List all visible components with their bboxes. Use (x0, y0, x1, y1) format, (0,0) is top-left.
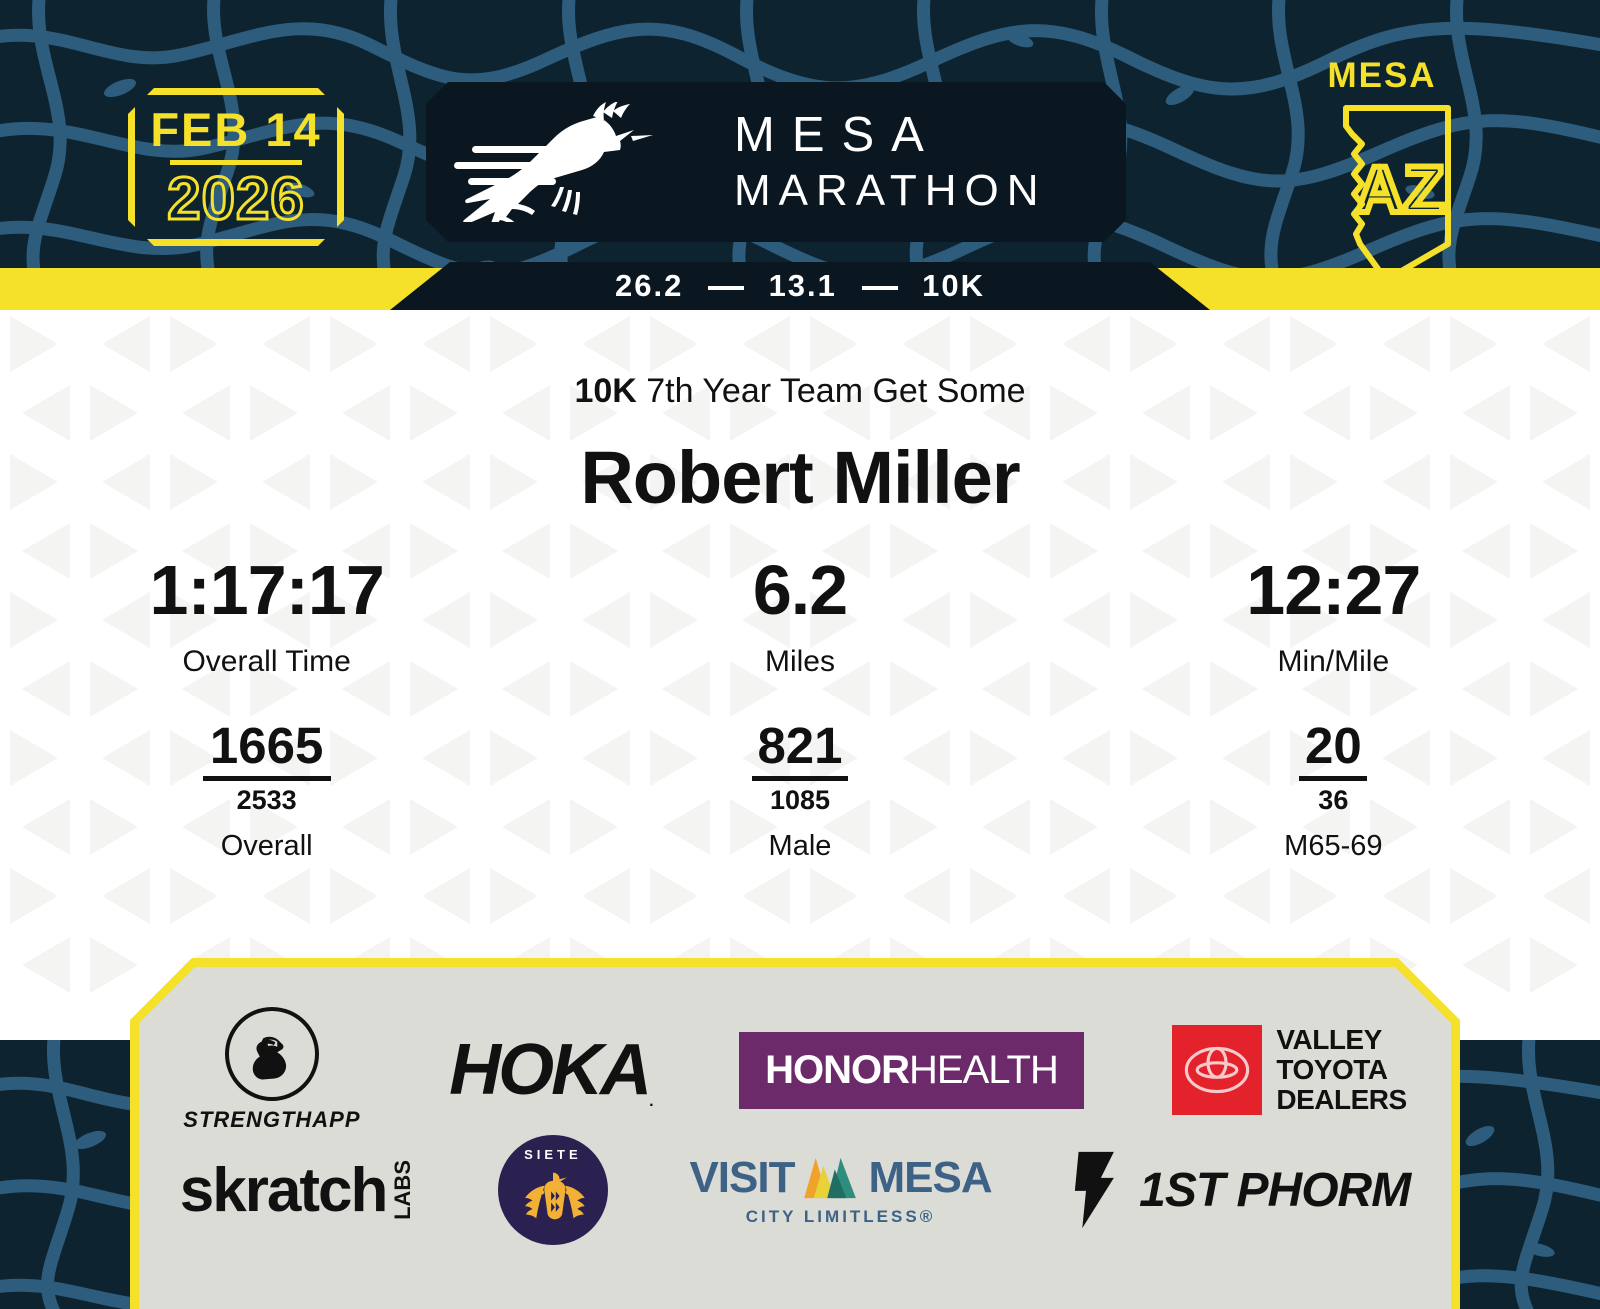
sponsor-tagline: CITY LIMITLESS® (746, 1207, 935, 1227)
fraction-bar (1299, 776, 1367, 781)
sponsor-name: SIETE (498, 1147, 608, 1162)
placement-field: 36 (1318, 786, 1348, 814)
flexed-bicep-icon (225, 1007, 319, 1101)
sponsor-name: HOKA (449, 1030, 649, 1110)
distance-full: 26.2 (615, 268, 683, 303)
distance-separator (708, 286, 744, 290)
placement-fraction: 1665 2533 Overall (203, 719, 331, 863)
race-and-team-line: 10K 7th Year Team Get Some (0, 372, 1600, 411)
placement-division: M65-69 (1284, 830, 1382, 863)
phorm-flag-icon (1073, 1150, 1125, 1230)
sponsor-word-visit: VISIT (689, 1153, 794, 1203)
event-year: 2026 (167, 169, 304, 229)
sponsor-word-mesa: MESA (868, 1153, 991, 1203)
stat-value: 1:17:17 (150, 555, 384, 625)
sponsor-hoka[interactable]: HOKA. (449, 1015, 650, 1125)
sponsor-name: STRENGTHAPP (183, 1107, 360, 1133)
az-badge-title: MESA (1312, 56, 1452, 96)
sponsor-name-light: HEALTH (909, 1048, 1058, 1093)
stat-caption: Overall Time (182, 645, 350, 679)
event-date-badge: FEB 14 2026 (128, 88, 344, 246)
sponsor-line-3: DEALERS (1276, 1085, 1406, 1115)
stat-value: 12:27 (1246, 555, 1420, 625)
placement-field: 2533 (237, 786, 297, 814)
sponsor-honorhealth[interactable]: HONORHEALTH (739, 1015, 1084, 1125)
sponsor-name: 1ST PHORM (1139, 1163, 1410, 1218)
distance-10k: 10K (922, 268, 985, 303)
placement-fraction: 821 1085 Male (752, 719, 848, 863)
header-banner: FEB 14 2026 (0, 0, 1600, 310)
distance-banner: 26.2 13.1 10K (390, 262, 1210, 310)
distance-list: 26.2 13.1 10K (615, 268, 985, 304)
sponsor-line-1: VALLEY (1276, 1025, 1406, 1055)
sponsor-panel: STRENGTHAPP HOKA. HONORHEALTH (130, 958, 1460, 1309)
roadrunner-icon (454, 102, 724, 222)
placement-field: 1085 (770, 786, 830, 814)
fraction-bar (203, 776, 331, 781)
toyota-emblem-icon (1172, 1025, 1262, 1115)
date-divider (170, 160, 302, 165)
stat-column-pace: 12:27 Min/Mile 20 36 M65-69 (1067, 555, 1600, 863)
race-distance-label: 10K (574, 372, 636, 410)
sponsor-skratch-labs[interactable]: skratch LABS (180, 1135, 417, 1245)
placement-division: Male (769, 830, 832, 863)
distance-separator (862, 286, 898, 290)
sponsor-row-1: STRENGTHAPP HOKA. HONORHEALTH (139, 1015, 1451, 1125)
sponsor-panel-inner: STRENGTHAPP HOKA. HONORHEALTH (139, 967, 1451, 1309)
placement-rank: 821 (757, 719, 842, 773)
event-month-day: FEB 14 (150, 106, 321, 153)
stats-row: 1:17:17 Overall Time 1665 2533 Overall 6… (0, 555, 1600, 863)
sponsor-visit-mesa[interactable]: VISIT MESA CITY LIMITLESS® (689, 1135, 991, 1245)
fraction-bar (752, 776, 848, 781)
placement-fraction: 20 36 M65-69 (1284, 719, 1382, 863)
stat-caption: Min/Mile (1277, 645, 1389, 679)
sponsor-sub: LABS (390, 1160, 416, 1220)
svg-text:AZ: AZ (1356, 152, 1444, 226)
eagle-icon (511, 1154, 595, 1238)
registered-mark: . (649, 1093, 650, 1110)
sponsor-name: skratch (180, 1155, 387, 1226)
placement-division: Overall (221, 830, 313, 863)
sponsor-name-bold: HONOR (765, 1048, 909, 1093)
mesa-az-badge: MESA AZ (1312, 56, 1452, 246)
race-certificate: FEB 14 2026 (0, 0, 1600, 1309)
arizona-outline-icon: AZ (1312, 94, 1452, 284)
placement-rank: 20 (1305, 719, 1362, 773)
placement-rank: 1665 (210, 719, 323, 773)
stat-column-time: 1:17:17 Overall Time 1665 2533 Overall (0, 555, 533, 863)
results-body: 10K 7th Year Team Get Some Robert Miller… (0, 310, 1600, 1000)
sponsor-line-2: TOYOTA (1276, 1055, 1406, 1085)
distance-half: 13.1 (769, 268, 837, 303)
sponsor-siete[interactable]: SIETE (498, 1135, 608, 1245)
logo-wordmark: MESA MARATHON (734, 107, 1047, 217)
stat-value: 6.2 (753, 555, 847, 625)
logo-line-marathon: MARATHON (734, 165, 1047, 217)
logo-line-mesa: MESA (734, 107, 1047, 165)
team-name: 7th Year Team Get Some (646, 372, 1025, 410)
sponsor-strengthapp[interactable]: STRENGTHAPP (183, 1015, 360, 1125)
mountain-peaks-icon (802, 1156, 860, 1200)
sponsor-row-2: skratch LABS SIETE (139, 1135, 1451, 1245)
stat-caption: Miles (765, 645, 835, 679)
sponsor-1st-phorm[interactable]: 1ST PHORM (1073, 1135, 1410, 1245)
stat-column-miles: 6.2 Miles 821 1085 Male (533, 555, 1066, 863)
athlete-name: Robert Miller (0, 435, 1600, 520)
sponsor-valley-toyota-dealers[interactable]: VALLEY TOYOTA DEALERS (1172, 1015, 1406, 1125)
mesa-marathon-logo: MESA MARATHON (426, 82, 1126, 242)
